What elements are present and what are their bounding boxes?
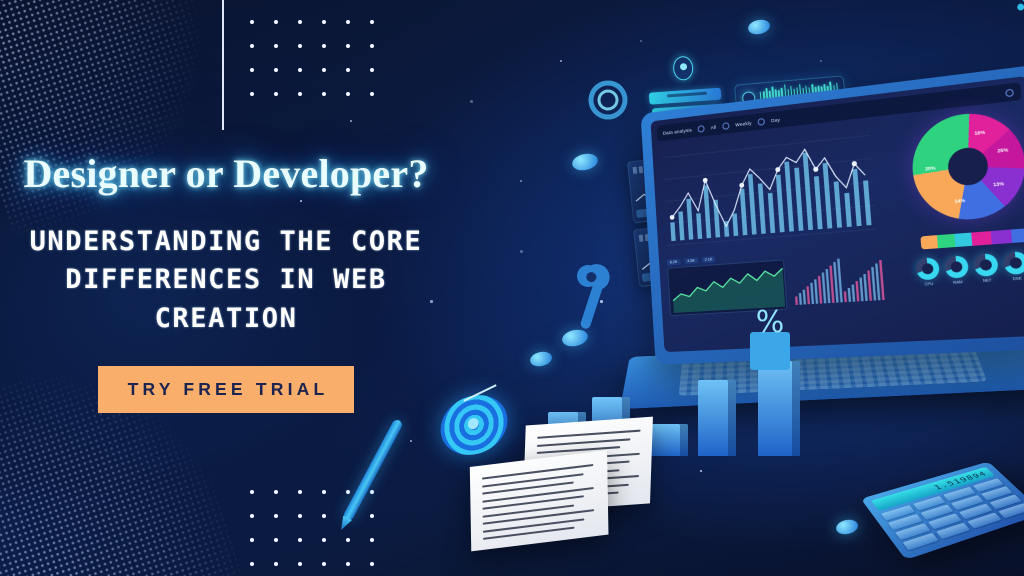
gauge-dsk-label: DSK xyxy=(1005,276,1024,282)
username-field[interactable] xyxy=(649,88,722,105)
document-text-line xyxy=(537,438,631,447)
pen-icon xyxy=(342,418,403,522)
user-avatar-icon xyxy=(672,56,694,81)
dashboard-body: 16% 25% 13% 14% 20% CPU RA xyxy=(652,102,1024,352)
filter-all[interactable]: All xyxy=(710,124,716,130)
isometric-bar xyxy=(758,361,800,456)
gauge-ram-label: RAM xyxy=(946,279,970,285)
gauge-cpu: CPU xyxy=(915,257,940,287)
laptop-lid: Data analysis All Weekly Day xyxy=(641,65,1024,365)
filter-icon-weekly[interactable] xyxy=(722,122,729,130)
dashboard-gauges: CPU RAM NET DSK xyxy=(915,251,1024,287)
document-page-front xyxy=(470,450,609,551)
dashboard-title: Data analysis xyxy=(663,127,693,135)
document-text-line xyxy=(482,464,593,480)
filter-weekly[interactable]: Weekly xyxy=(735,120,752,127)
laptop-donut-chart: 16% 25% 13% 14% 20% xyxy=(909,108,1024,224)
donut-label-4: 20% xyxy=(925,165,936,171)
coin-icon xyxy=(571,151,600,172)
coin-icon xyxy=(835,518,859,536)
calculator: 1.519894 xyxy=(861,462,1024,560)
gauge-net: NET xyxy=(973,253,999,284)
page-title: Understanding the Core Differences in We… xyxy=(0,223,452,338)
cta-wrapper: TRY FREE TRIAL xyxy=(0,366,452,413)
donut-label-3: 14% xyxy=(954,198,965,204)
eyebrow-heading: Designer or Developer? xyxy=(0,150,452,197)
isometric-bar xyxy=(698,380,736,456)
banner-copy: Designer or Developer? Understanding the… xyxy=(0,150,452,413)
gauge-ram: RAM xyxy=(944,255,970,285)
percent-icon: % xyxy=(744,306,796,372)
kpi-1: 4.5K xyxy=(684,257,698,264)
kpi-2: 2.1K xyxy=(702,256,716,263)
document-text-line xyxy=(537,430,640,439)
contract-document xyxy=(471,414,660,565)
coin-icon xyxy=(747,18,771,36)
dashboard-legend-bar xyxy=(920,228,1024,249)
dashboard-mini-bars xyxy=(790,252,887,309)
kpi-0: 8.2K xyxy=(667,259,681,266)
gauge-cpu-label: CPU xyxy=(917,281,940,287)
donut-label-2: 13% xyxy=(993,181,1004,188)
laptop-screen: Data analysis All Weekly Day xyxy=(651,76,1024,352)
calculator-keypad[interactable] xyxy=(881,478,1024,550)
gauge-net-label: NET xyxy=(975,278,999,284)
promo-banner: Search here Forgot password? Remember me… xyxy=(0,0,1024,576)
filter-day[interactable]: Day xyxy=(771,117,780,123)
wrench-icon xyxy=(551,255,613,331)
svg-text:%: % xyxy=(756,306,785,340)
filter-icon-all[interactable] xyxy=(698,124,705,132)
gear-icon xyxy=(582,74,634,126)
donut-label-0: 16% xyxy=(974,129,985,136)
document-text-line xyxy=(482,495,583,510)
try-free-trial-button[interactable]: TRY FREE TRIAL xyxy=(98,366,355,413)
document-text-line xyxy=(483,509,594,525)
more-options-icon[interactable] xyxy=(1005,88,1014,97)
gauge-dsk: DSK xyxy=(1003,251,1024,282)
filter-icon-day[interactable] xyxy=(757,117,765,125)
laptop-combo-chart xyxy=(658,124,882,255)
donut-label-1: 25% xyxy=(997,147,1008,154)
